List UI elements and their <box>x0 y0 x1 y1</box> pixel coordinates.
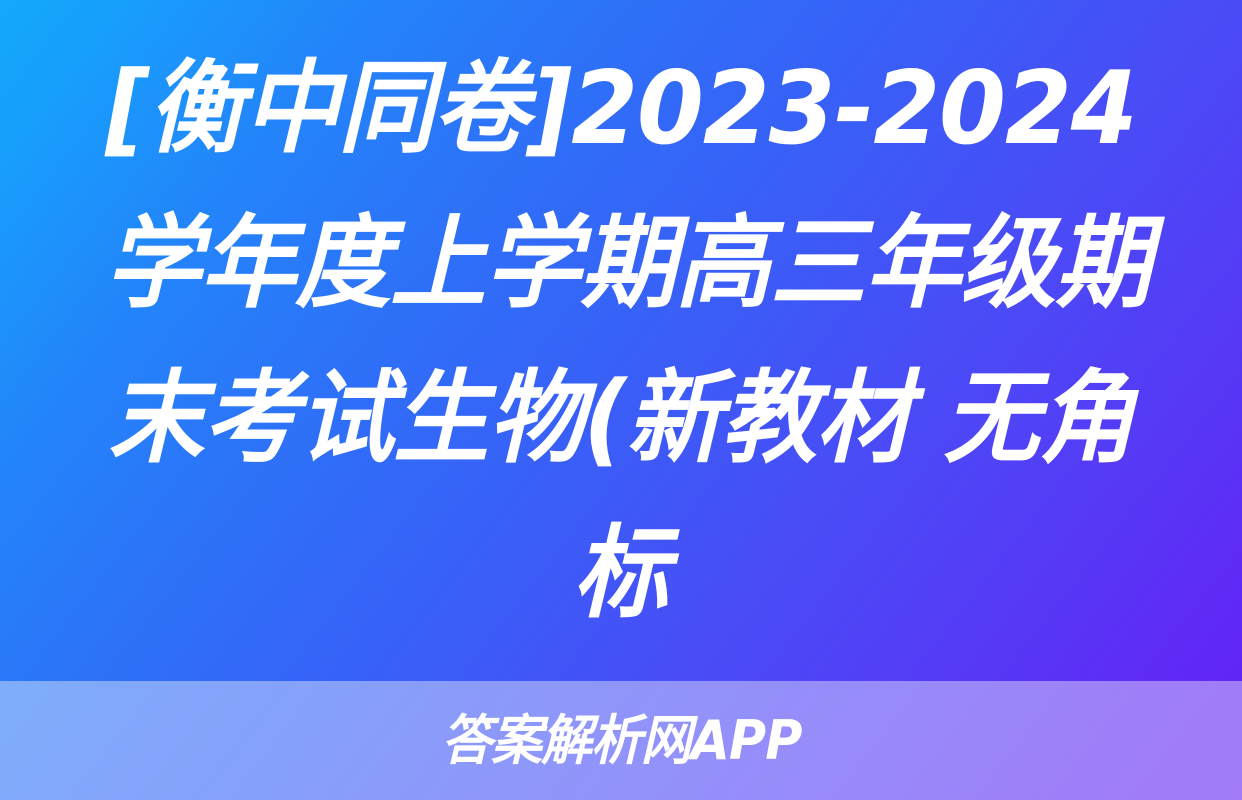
watermark-text: 答案解析网APP <box>441 711 801 771</box>
headline-line-2: 学年度上学期高三年级期 <box>105 186 1137 341</box>
headline-area: [衡中同卷]2023-2024 学年度上学期高三年级期 末考试生物(新教材 无角… <box>0 0 1242 681</box>
poster-canvas: [衡中同卷]2023-2024 学年度上学期高三年级期 末考试生物(新教材 无角… <box>0 0 1242 800</box>
headline-line-1: [衡中同卷]2023-2024 <box>105 31 1137 186</box>
headline-line-3: 末考试生物(新教材 无角 <box>105 341 1137 496</box>
footer-watermark-band: 答案解析网APP <box>0 681 1242 800</box>
headline-line-4: 标 <box>105 496 1137 651</box>
